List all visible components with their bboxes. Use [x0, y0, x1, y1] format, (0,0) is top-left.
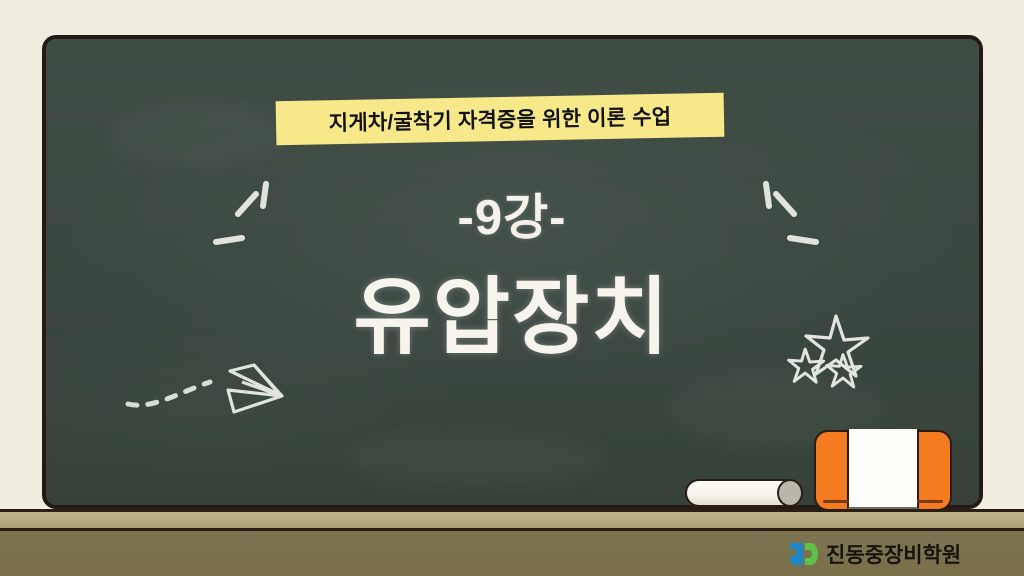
jd-monogram-icon	[789, 541, 819, 567]
page-title: 유압장치	[0, 250, 1024, 371]
lesson-number: -9강-	[0, 178, 1024, 249]
slide-canvas: 지게차/굴착기 자격증을 위한 이론 수업 -9강- 유압장치	[0, 0, 1024, 576]
board-eraser-stripe-left	[823, 500, 849, 503]
chalk-tray-ledge	[0, 509, 1024, 531]
chalk-stick-cap	[777, 479, 803, 507]
subtitle-banner-text: 지게차/굴착기 자격증을 위한 이론 수업	[328, 101, 671, 138]
board-eraser-stripe-right	[917, 500, 943, 503]
chalk-stick	[685, 479, 803, 507]
board-eraser	[814, 430, 952, 511]
board-eraser-felt	[847, 429, 919, 509]
chalk-stick-body	[685, 479, 789, 507]
brand-logo-text: 진동중장비학원	[826, 539, 961, 569]
brand-logo: 진동중장비학원	[789, 539, 961, 569]
subtitle-banner: 지게차/굴착기 자격증을 위한 이론 수업	[276, 93, 725, 146]
